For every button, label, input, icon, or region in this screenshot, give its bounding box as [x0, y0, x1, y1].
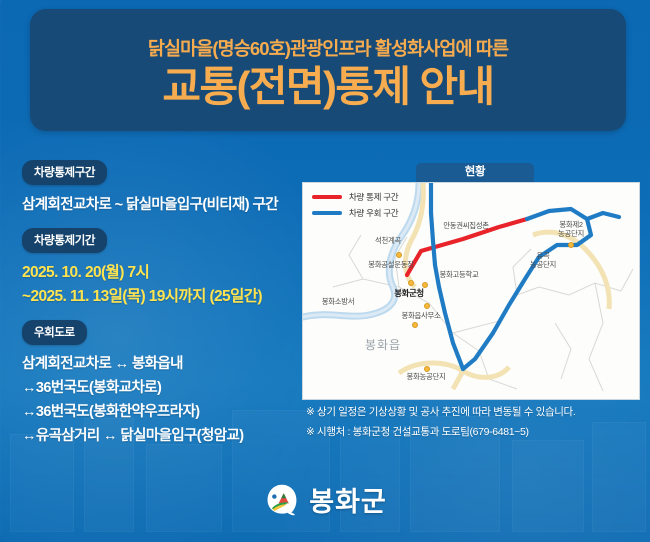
legend-item-detour: 차량 우회 구간 — [312, 207, 398, 219]
map-label-seokcheon-valley: 석천계곡 — [375, 237, 401, 246]
control-period-badge: 차량통제기간 — [22, 228, 107, 253]
detour-route-line: ↔36번국도(봉화교차로) — [22, 376, 298, 397]
map-label-andong-kwon-village: 안동권씨집성촌 — [443, 222, 489, 231]
logo-text: 봉화군 — [309, 480, 387, 519]
legend-swatch-control-red — [312, 195, 342, 199]
poi-dot — [412, 322, 418, 328]
map-label-eup-office: 봉화읍사무소 — [402, 312, 441, 321]
control-section-block: 차량통제구간 삼계회전교차로 ~ 닭실마을입구(비티재) 구간 — [22, 160, 298, 214]
map-label-agri-industrial-complex: 봉화농공단지 — [407, 373, 446, 382]
detour-route-line: ↔36번국도(봉화한약우프라자) — [22, 400, 298, 421]
control-period-end: ~2025. 11. 13일(목) 19시까지 (25일간) — [22, 284, 298, 306]
poi-dot — [408, 280, 414, 286]
footer-notes: ※ 상기 일정은 기상상황 및 공사 추진에 따라 변동될 수 있습니다. ※ … — [306, 404, 575, 444]
detour-block: 우회도로 삼계회전교차로 ↔ 봉화읍내 ↔36번국도(봉화교차로) ↔36번국도… — [22, 320, 298, 445]
map-panel[interactable]: 차량 통제 구간 차량 우회 구간 석천계곡 안동권씨집성촌 봉화제2 농공단지… — [302, 182, 640, 400]
detour-route-line: ↔유곡삼거리 ↔ 닭실마을입구(청암교) — [22, 424, 298, 445]
page-title: 교통(전면)통제 안내 — [30, 63, 626, 111]
header-subtitle: 닭실마을(명승60호)관광인프라 활성화사업에 따른 — [30, 35, 626, 61]
control-period-block: 차량통제기간 2025. 10. 20(월) 7시 ~2025. 11. 13일… — [22, 228, 298, 306]
traffic-control-notice-poster: 닭실마을(명승60호)관광인프라 활성화사업에 따른 교통(전면)통제 안내 차… — [0, 0, 650, 542]
legend-label-detour: 차량 우회 구간 — [349, 207, 398, 219]
info-column: 차량통제구간 삼계회전교차로 ~ 닭실마을입구(비티재) 구간 차량통제기간 2… — [22, 160, 298, 445]
detour-badge: 우회도로 — [22, 320, 87, 345]
map-label-public-stadium: 봉화공설운동장 — [368, 261, 414, 270]
poi-dot — [568, 242, 574, 248]
legend-swatch-detour-blue — [312, 211, 342, 215]
map-label-bonghwa-eup: 봉화읍 — [365, 341, 401, 350]
detour-route-line: 삼계회전교차로 ↔ 봉화읍내 — [22, 352, 298, 373]
map-label-bonghwa-high-school: 봉화고등학교 — [440, 271, 479, 280]
map-label-bonghwa2-complex-line2: 농공단지 — [558, 230, 584, 239]
note-schedule-change: ※ 상기 일정은 기상상황 및 공사 추진에 따라 변동될 수 있습니다. — [306, 404, 575, 419]
map-label-county-office: 봉화군청 — [394, 289, 424, 298]
legend-item-control: 차량 통제 구간 — [312, 191, 398, 203]
map-status-tab: 현황 — [416, 163, 534, 182]
poi-dot — [396, 252, 402, 258]
bonghwa-gun-emblem-icon — [263, 483, 301, 517]
poster-header: 닭실마을(명승60호)관광인프라 활성화사업에 따른 교통(전면)통제 안내 — [30, 9, 626, 131]
map-legend: 차량 통제 구간 차량 우회 구간 — [312, 191, 398, 223]
map-label-fire-station: 봉화소방서 — [322, 298, 355, 307]
map-label-yugok-complex-line2: 농공단지 — [530, 261, 556, 270]
poi-dot — [424, 303, 430, 309]
control-section-badge: 차량통제구간 — [22, 160, 107, 185]
organization-logo: 봉화군 — [0, 480, 650, 519]
control-period-start: 2025. 10. 20(월) 7시 — [22, 260, 298, 282]
note-contact: ※ 시행처 : 봉화군청 건설교통과 도로팀(679-6481~5) — [306, 424, 575, 439]
legend-label-control: 차량 통제 구간 — [349, 191, 398, 203]
control-section-value: 삼계회전교차로 ~ 닭실마을입구(비티재) 구간 — [22, 193, 298, 214]
